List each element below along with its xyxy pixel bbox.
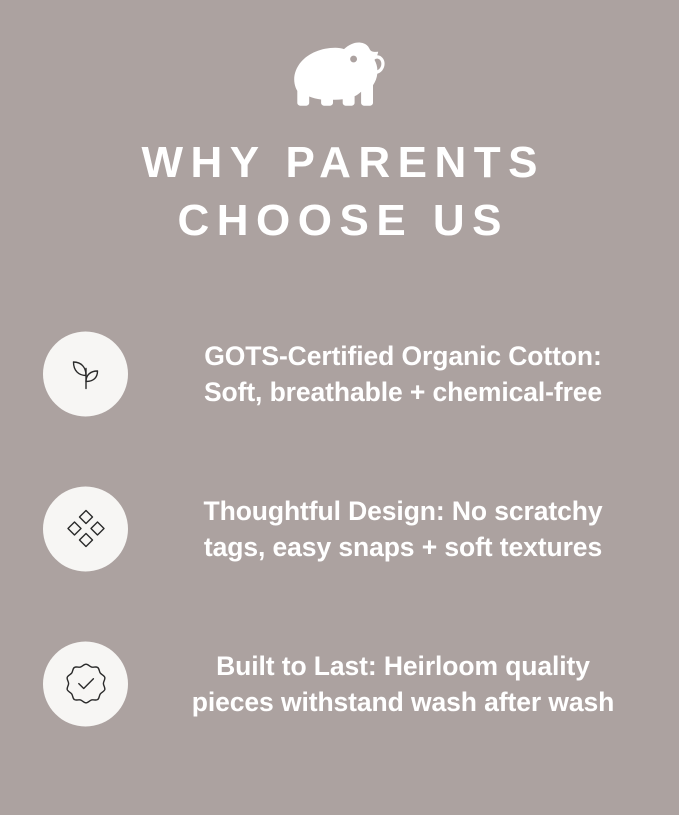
feature-line-2: pieces withstand wash after wash — [148, 684, 658, 720]
heading-line-2: CHOOSE US — [0, 192, 679, 250]
feature-icon-badge — [43, 641, 128, 726]
feature-line-1: Built to Last: Heirloom quality — [148, 648, 658, 684]
brand-logo — [0, 38, 679, 113]
feature-icon-badge — [43, 486, 128, 571]
feature-text: GOTS-Certified Organic Cotton: Soft, bre… — [148, 338, 658, 410]
scalloped-badge-check-icon — [64, 662, 108, 706]
feature-item: GOTS-Certified Organic Cotton: Soft, bre… — [0, 296, 679, 451]
why-parents-choose-us-panel: WHY PARENTS CHOOSE US GOTS-Certified Org… — [0, 0, 679, 815]
feature-line-2: Soft, breathable + chemical-free — [148, 374, 658, 410]
four-diamonds-icon — [65, 508, 107, 550]
feature-line-1: GOTS-Certified Organic Cotton: — [148, 338, 658, 374]
panel-heading: WHY PARENTS CHOOSE US — [0, 134, 679, 250]
feature-item: Thoughtful Design: No scratchy tags, eas… — [0, 451, 679, 606]
heading-line-1: WHY PARENTS — [0, 134, 679, 192]
feature-line-1: Thoughtful Design: No scratchy — [148, 493, 658, 529]
features-list: GOTS-Certified Organic Cotton: Soft, bre… — [0, 296, 679, 761]
feature-text: Built to Last: Heirloom quality pieces w… — [148, 648, 658, 720]
elephant-icon — [290, 42, 390, 110]
sprout-leaf-icon — [65, 353, 107, 395]
feature-text: Thoughtful Design: No scratchy tags, eas… — [148, 493, 658, 565]
feature-icon-badge — [43, 331, 128, 416]
feature-item: Built to Last: Heirloom quality pieces w… — [0, 606, 679, 761]
feature-line-2: tags, easy snaps + soft textures — [148, 529, 658, 565]
